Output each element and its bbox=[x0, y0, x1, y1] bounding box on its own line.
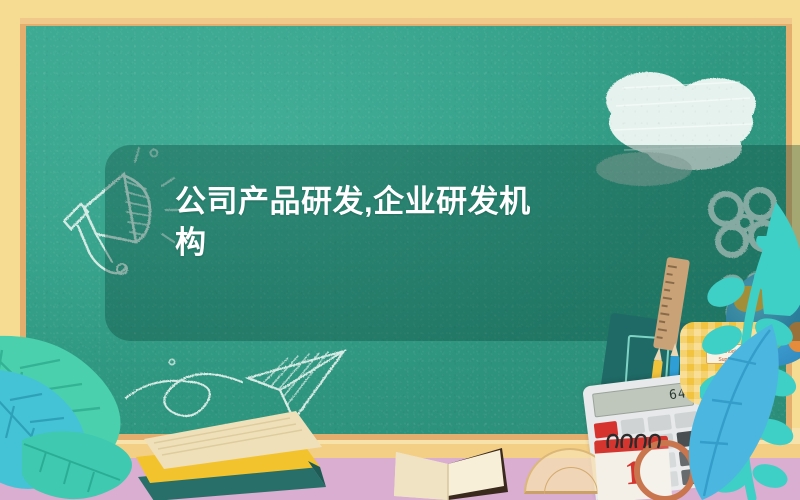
desk-calendar-rings bbox=[600, 432, 666, 450]
page-title-line-2: 构 bbox=[175, 222, 635, 263]
poster-canvas: 公司产品研发,企业研发机 构 School Supplies bbox=[0, 0, 800, 500]
chalkboard-frame-highlight bbox=[20, 18, 792, 24]
book-open bbox=[392, 430, 510, 500]
page-title-line-1: 公司产品研发,企业研发机 bbox=[175, 181, 635, 222]
leaf-right-blue bbox=[668, 322, 794, 500]
leaf-small-left bbox=[22, 428, 152, 500]
page-title: 公司产品研发,企业研发机 构 bbox=[175, 181, 635, 263]
